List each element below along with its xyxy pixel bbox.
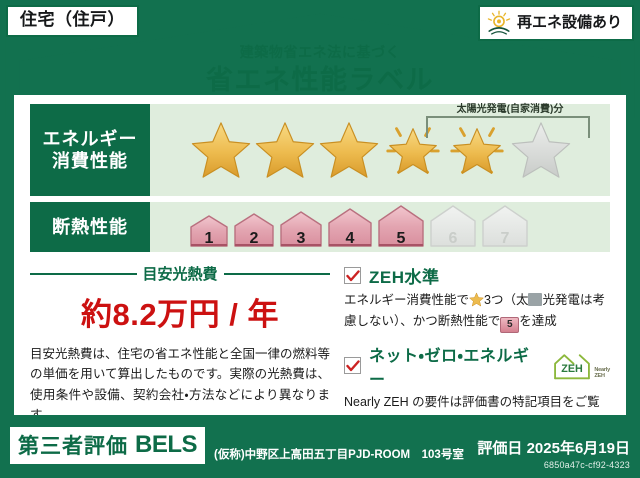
- energy-performance-label-box: エネルギー 消費性能: [30, 104, 150, 196]
- evaluation-info: 評価日 2025年6月19日 6850a47c-cf92-4323: [477, 437, 630, 470]
- renewable-badge-label: 再エネ設備あり: [517, 15, 622, 32]
- cost-value: 約8.2万円 / 年: [30, 289, 330, 334]
- zeh-standard-body: エネルギー消費性能で3つ（太光発電は考慮しない）、かつ断熱性能で5を達成: [344, 290, 610, 333]
- cost-heading-text: 目安光熱費: [143, 263, 218, 284]
- insulation-level-number: 7: [480, 230, 530, 248]
- check-icon: [346, 270, 360, 282]
- zeh-section: ZEH水準 エネルギー消費性能で3つ（太光発電は考慮しない）、かつ断熱性能で5を…: [344, 263, 610, 433]
- energy-performance-label: 住宅（住戸） 再エネ設備あり 建築物省エネ法に基づく 省エネ性能ラベル エネルギ…: [0, 0, 640, 478]
- solar-bracket-caption: 太陽光発電(自家消費)分: [420, 100, 600, 115]
- zeh-logo-sub-line2: ZEH: [594, 373, 604, 379]
- insulation-level-4: 4: [326, 206, 374, 252]
- cost-note: 目安光熱費は、住宅の省エネ性能と全国一律の燃料等の単価を用いて算出したものです。…: [30, 344, 330, 425]
- insulation-level-6: 6: [428, 203, 478, 252]
- estimated-utility-cost-section: 目安光熱費 約8.2万円 / 年 目安光熱費は、住宅の省エネ性能と全国一律の燃料…: [30, 263, 330, 425]
- bels-logo: 第三者評価 BELS: [10, 427, 205, 464]
- insulation-level-scale: 1 2 3: [150, 203, 530, 252]
- insulation-level-number: 5: [376, 230, 426, 248]
- insulation-level-number: 1: [188, 230, 230, 248]
- zeh-standard-checkbox: [344, 267, 361, 284]
- star-filled-icon: [190, 119, 252, 181]
- insulation-performance-row: 断熱性能 1: [30, 202, 610, 252]
- zeh-standard-title: ZEH水準: [369, 263, 440, 288]
- cost-heading-row: 目安光熱費: [30, 263, 330, 284]
- insulation-level-7: 7: [480, 203, 530, 252]
- property-address: (仮称)中野区上高田五丁目PJD-ROOM 103号室: [214, 446, 464, 462]
- star-filled-icon: [318, 119, 380, 181]
- insulation-level-3: 3: [278, 209, 324, 252]
- label-title: 省エネ性能ラベル: [0, 58, 640, 97]
- insulation-level-2: 2: [232, 211, 276, 252]
- energy-label-line1: エネルギー: [43, 128, 138, 151]
- bels-en-text: BELS: [135, 431, 197, 459]
- insulation-performance-label-box: 断熱性能: [30, 202, 150, 252]
- insulation-level-number: 4: [326, 230, 374, 248]
- heading-rule-right: [224, 273, 331, 275]
- zeh-house-logo-icon: ZEH: [552, 352, 592, 380]
- net-zero-heading: ネット・ゼロ・エネルギー ZEH Nearly ZEH: [344, 342, 610, 390]
- evaluation-date: 評価日 2025年6月19日: [477, 437, 630, 458]
- inline-insulation-badge: 5: [500, 317, 519, 333]
- insulation-level-1: 1: [188, 213, 230, 252]
- insulation-level-5: 5: [376, 203, 426, 252]
- energy-label-line2: 消費性能: [52, 150, 128, 173]
- zeh-body-part1: エネルギー消費性能で: [344, 293, 469, 307]
- zeh-standard-heading: ZEH水準: [344, 263, 610, 288]
- solar-bracket: [426, 116, 590, 138]
- heading-rule-left: [30, 273, 137, 275]
- dwelling-type-badge: 住宅（住戸）: [6, 5, 139, 37]
- label-content-card: エネルギー 消費性能 太陽光発電(自家消費)分: [14, 95, 626, 415]
- star-filled-icon: [254, 119, 316, 181]
- zeh-body-part4: を達成: [519, 314, 557, 328]
- net-zero-checkbox: [344, 357, 361, 374]
- insulation-level-number: 6: [428, 230, 478, 248]
- net-zero-title: ネット・ゼロ・エネルギー: [369, 342, 544, 390]
- zeh-logo-sub-line1: Nearly: [594, 367, 610, 373]
- renewable-equipment-badge: 再エネ設備あり: [478, 5, 634, 41]
- energy-performance-row: エネルギー 消費性能 太陽光発電(自家消費)分: [30, 104, 610, 196]
- insulation-levels-area: 1 2 3: [150, 202, 610, 252]
- sun-icon: [486, 10, 512, 36]
- insulation-level-number: 2: [232, 230, 276, 248]
- footer-bar: 第三者評価 BELS (仮称)中野区上高田五丁目PJD-ROOM 103号室 評…: [0, 415, 640, 478]
- redacted-character: [528, 293, 542, 306]
- zeh-logo-sublabel: Nearly ZEH: [594, 367, 610, 380]
- insulation-label-text: 断熱性能: [52, 216, 128, 239]
- inline-star-icon: [469, 292, 484, 307]
- zeh-logo: ZEH Nearly ZEH: [552, 352, 610, 380]
- zeh-logo-text: ZEH: [562, 363, 584, 375]
- zeh-body-part2: 3つ（太: [484, 293, 528, 307]
- energy-stars-area: 太陽光発電(自家消費)分: [150, 104, 610, 196]
- check-icon: [346, 360, 360, 372]
- insulation-level-number: 3: [278, 230, 324, 248]
- evaluation-id: 6850a47c-cf92-4323: [477, 460, 630, 470]
- bels-jp-text: 第三者評価: [18, 430, 128, 460]
